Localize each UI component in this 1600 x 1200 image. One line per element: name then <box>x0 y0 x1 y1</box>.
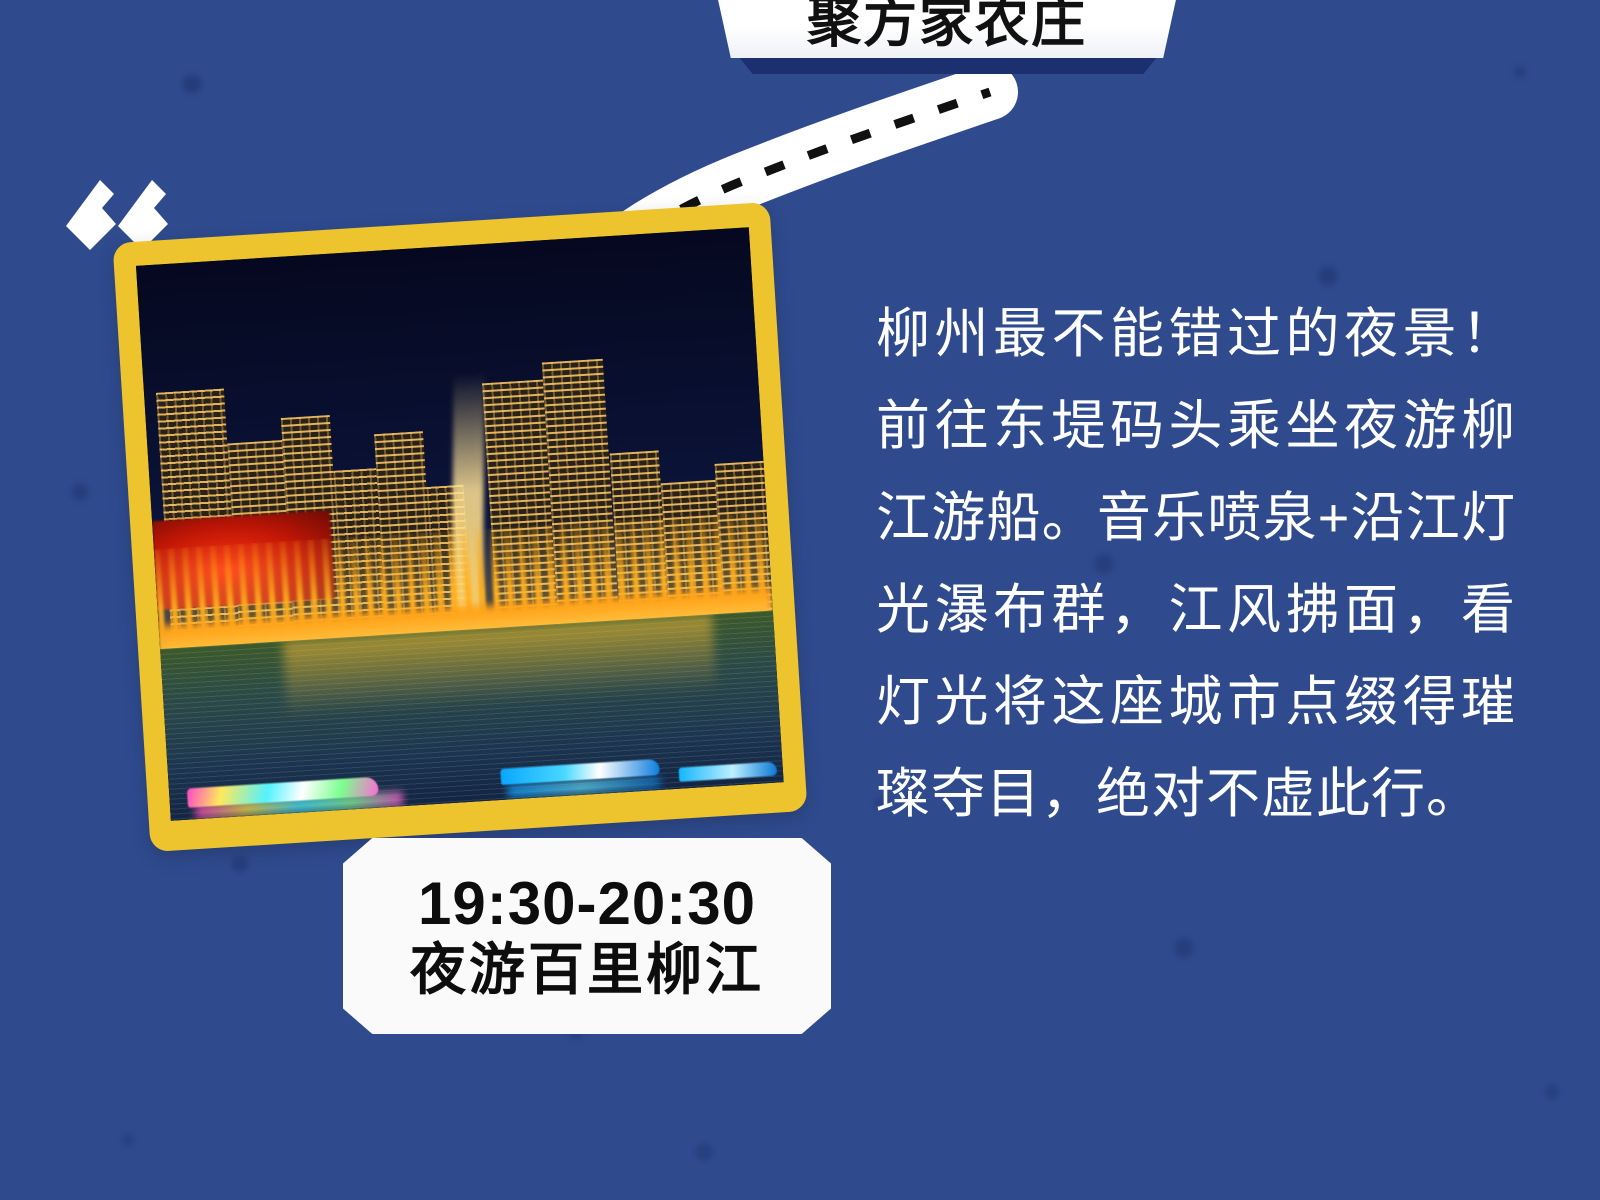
description-text: 柳州最不能错过的夜景！前往东堤码头乘坐夜游柳江游船。音乐喷泉+沿江灯光瀑布群，江… <box>876 288 1516 840</box>
night-city-photo <box>136 227 784 820</box>
photo-card[interactable] <box>112 202 807 852</box>
poster-canvas: 聚方家农庄 <box>0 0 1600 1200</box>
page-title: 聚方家农庄 <box>807 0 1087 58</box>
time-caption-badge: 19:30-20:30 夜游百里柳江 <box>343 838 831 1034</box>
activity-title: 夜游百里柳江 <box>410 939 764 1001</box>
title-banner: 聚方家农庄 <box>712 0 1182 58</box>
activity-time: 19:30-20:30 <box>418 872 756 935</box>
